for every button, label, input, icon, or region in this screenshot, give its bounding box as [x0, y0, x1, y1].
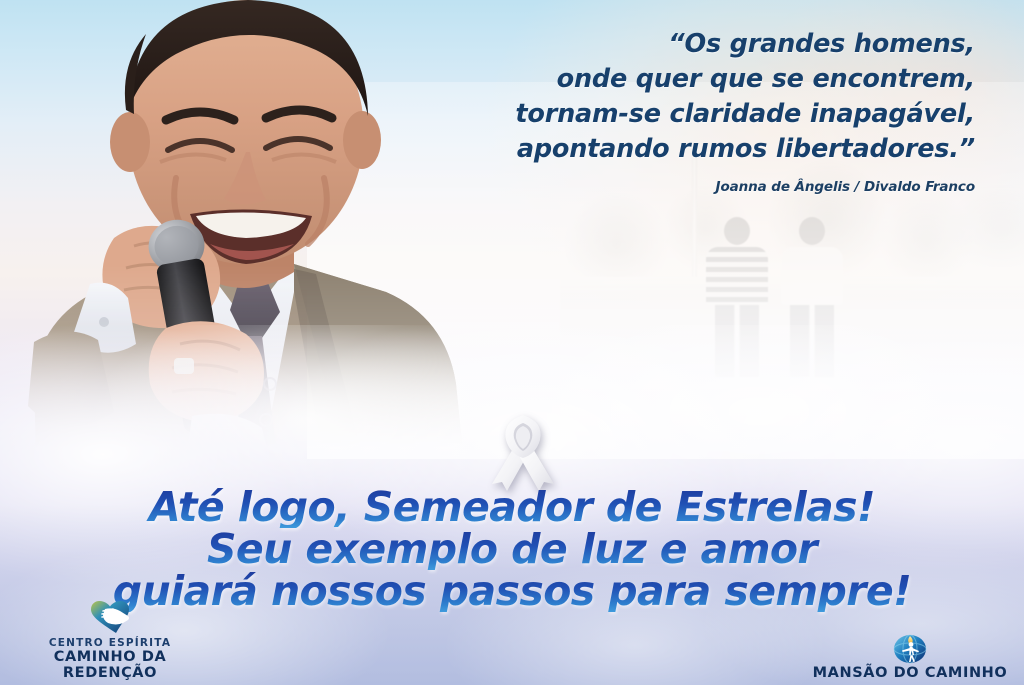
memorial-poster: “Os grandes homens, onde quer que se enc…	[0, 0, 1024, 685]
heart-hand-logo-icon	[4, 600, 216, 634]
headline-block: Até logo, Semeador de Estrelas! Seu exem…	[0, 486, 1024, 612]
globe-flame-logo-icon	[802, 631, 1018, 665]
quote-line: onde quer que se encontrem,	[415, 62, 975, 97]
logo-right-line2: MANSÃO DO CAMINHO	[802, 665, 1018, 681]
logo-centro-espirita: CENTRO ESPÍRITA CAMINHO DA REDENÇÃO	[4, 600, 216, 681]
logo-left-line1: CENTRO ESPÍRITA	[4, 637, 216, 649]
quote-line: apontando rumos libertadores.”	[415, 132, 975, 167]
portrait-photo	[0, 0, 474, 462]
quote-block: “Os grandes homens, onde quer que se enc…	[415, 27, 975, 195]
quote-attribution: Joanna de Ângelis / Divaldo Franco	[415, 179, 975, 195]
headline-line: Até logo, Semeador de Estrelas!	[0, 486, 1024, 528]
headline-line: Seu exemplo de luz e amor	[0, 528, 1024, 570]
logo-mansao-do-caminho: MANSÃO DO CAMINHO	[802, 631, 1018, 681]
quote-line: tornam-se claridade inapagável,	[415, 97, 975, 132]
logo-left-line2: CAMINHO DA REDENÇÃO	[4, 649, 216, 681]
mourning-ribbon-icon	[480, 410, 566, 494]
quote-line: “Os grandes homens,	[415, 27, 975, 62]
